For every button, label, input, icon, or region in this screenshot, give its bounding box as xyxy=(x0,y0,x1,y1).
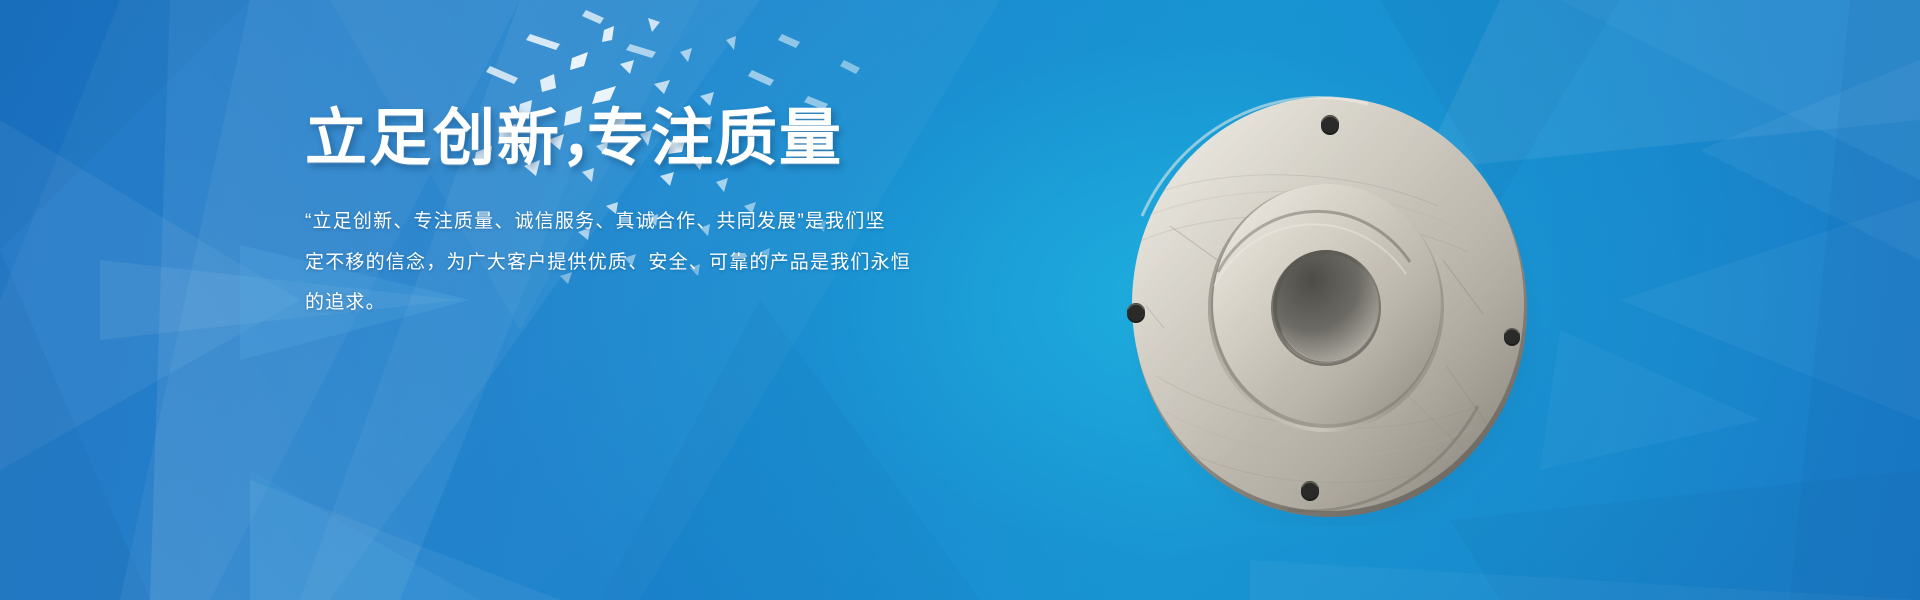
banner-description: “立足创新、专注质量、诚信服务、真诚合作、共同发展”是我们坚 定不移的信念，为广… xyxy=(305,208,945,317)
hero-banner: 立足创新，专注质量 “立足创新、专注质量、诚信服务、真诚合作、共同发展”是我们坚… xyxy=(0,0,1920,600)
banner-copy-block: 立足创新，专注质量 “立足创新、专注质量、诚信服务、真诚合作、共同发展”是我们坚… xyxy=(305,108,965,317)
product-photo-metal-flange xyxy=(1038,76,1618,526)
description-line-1: “立足创新、专注质量、诚信服务、真诚合作、共同发展”是我们坚 xyxy=(305,208,945,236)
headline-part-1: 立足创新 xyxy=(305,104,561,173)
description-line-2: 定不移的信念，为广大客户提供优质、安全、可靠的产品是我们永恒 xyxy=(305,249,945,277)
headline-separator: ， xyxy=(561,108,587,170)
headline-part-2: 专注质量 xyxy=(587,104,843,173)
description-line-3: 的追求。 xyxy=(305,289,945,317)
banner-headline: 立足创新，专注质量 xyxy=(305,108,965,170)
